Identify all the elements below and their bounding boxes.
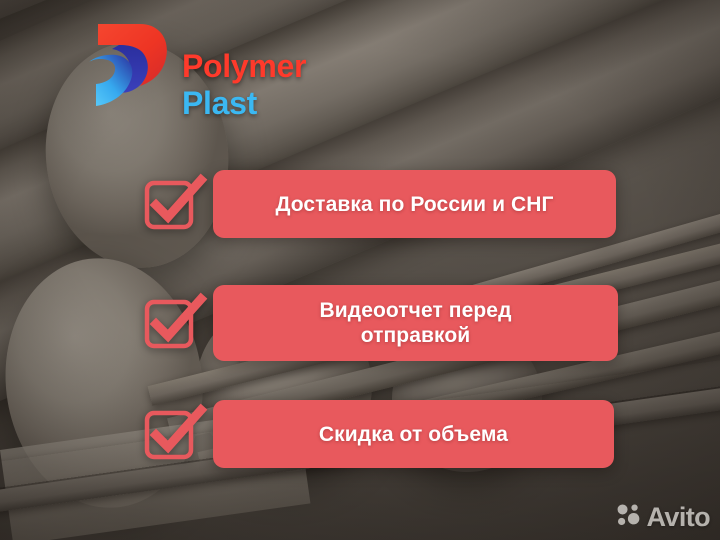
feature-list: Доставка по России и СНГ Видеоотчет пере… — [0, 0, 720, 540]
feature-item: Доставка по России и СНГ — [143, 170, 616, 238]
checkbox-checked-icon — [143, 176, 199, 232]
checkbox-checked-icon — [143, 406, 199, 462]
feature-item: Скидка от объема — [143, 400, 614, 468]
feature-badge[interactable]: Видеоотчет перед отправкой — [213, 285, 618, 361]
checkbox-checked-icon — [143, 295, 199, 351]
avito-dots-icon — [617, 503, 641, 532]
feature-label: Видеоотчет перед отправкой — [319, 298, 511, 348]
feature-badge[interactable]: Скидка от объема — [213, 400, 614, 468]
feature-item: Видеоотчет перед отправкой — [143, 285, 618, 361]
avito-label: Avito — [647, 504, 711, 531]
advertisement-banner: Polymer Plast Доставка по России и СНГ — [0, 0, 720, 540]
avito-watermark: Avito — [617, 503, 711, 532]
feature-badge[interactable]: Доставка по России и СНГ — [213, 170, 616, 238]
feature-label: Скидка от объема — [319, 422, 508, 447]
feature-label: Доставка по России и СНГ — [275, 192, 553, 217]
